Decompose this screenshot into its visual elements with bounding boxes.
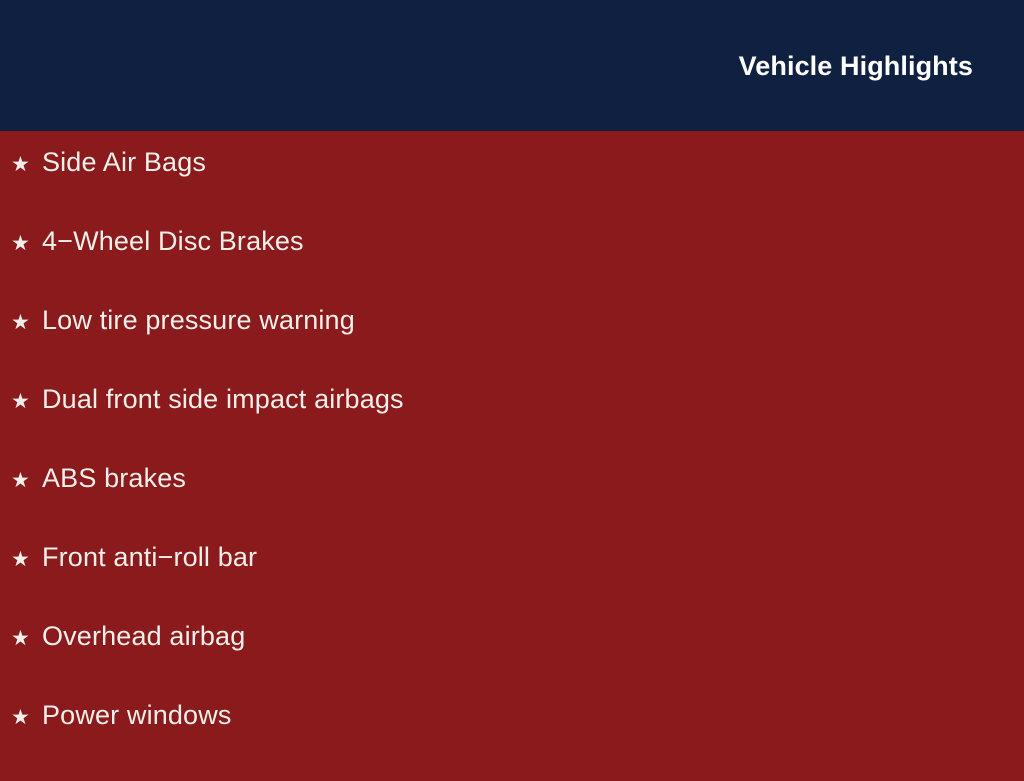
list-item-label: Overhead airbag [42,623,245,650]
vehicle-highlights-slide: Vehicle Highlights ★ Side Air Bags ★ 4−W… [0,0,1024,768]
page-title: Vehicle Highlights [739,53,973,80]
vehicle-highlights-list: ★ Side Air Bags ★ 4−Wheel Disc Brakes ★ … [0,149,1024,781]
list-item: ★ Side Air Bags [0,149,1024,228]
list-item-label: Low tire pressure warning [42,307,355,334]
list-item-label: Side Air Bags [42,149,206,176]
list-item: ★ 4−Wheel Disc Brakes [0,228,1024,307]
list-item: ★ Power windows [0,702,1024,781]
list-item: ★ Dual front side impact airbags [0,386,1024,465]
list-item-label: 4−Wheel Disc Brakes [42,228,304,255]
star-bullet-icon: ★ [11,154,42,175]
slide-header-band: Vehicle Highlights [0,0,1024,131]
list-item: ★ Front anti−roll bar [0,544,1024,623]
star-bullet-icon: ★ [11,312,42,333]
list-item-label: ABS brakes [42,465,186,492]
list-item: ★ ABS brakes [0,465,1024,544]
list-item: ★ Low tire pressure warning [0,307,1024,386]
list-item-label: Front anti−roll bar [42,544,257,571]
star-bullet-icon: ★ [11,470,42,491]
star-bullet-icon: ★ [11,707,42,728]
slide-body: ★ Side Air Bags ★ 4−Wheel Disc Brakes ★ … [0,131,1024,768]
list-item-label: Dual front side impact airbags [42,386,404,413]
list-item-label: Power windows [42,702,232,729]
star-bullet-icon: ★ [11,391,42,412]
star-bullet-icon: ★ [11,549,42,570]
list-item: ★ Overhead airbag [0,623,1024,702]
star-bullet-icon: ★ [11,233,42,254]
star-bullet-icon: ★ [11,628,42,649]
